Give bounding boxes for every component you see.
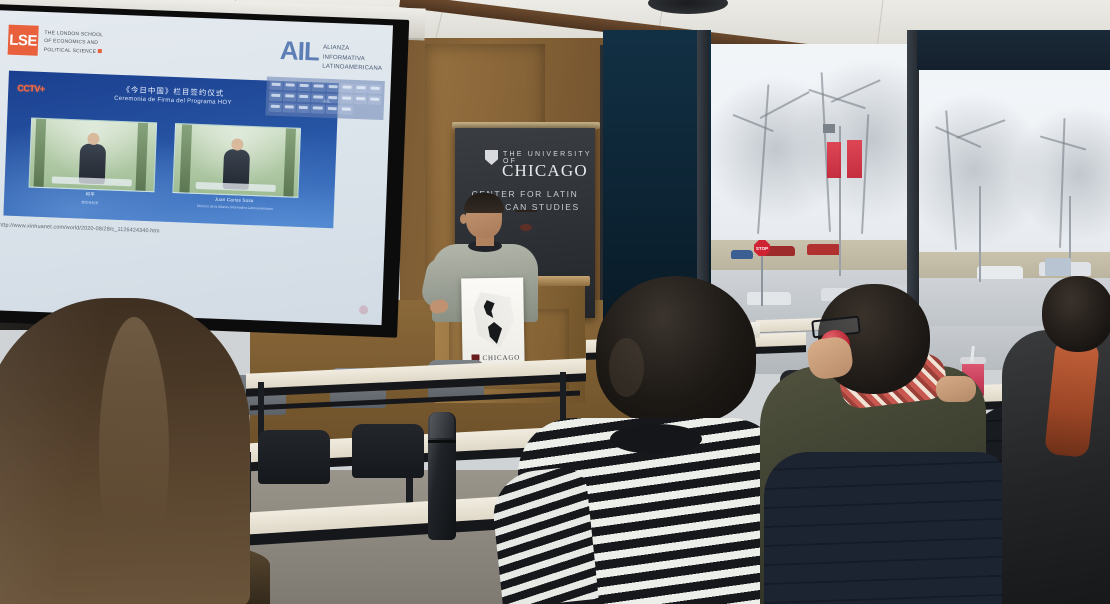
speaker-hair xyxy=(464,193,504,213)
lse-logo-icon: LSE xyxy=(8,25,39,56)
ail-mark: AIL xyxy=(280,39,320,63)
uchicago-shield-icon xyxy=(485,150,498,165)
projection-screen-assembly: LSE THE LONDON SCHOOL OF ECONOMICS AND P… xyxy=(0,0,424,348)
lse-wordmark-line1: THE LONDON SCHOOL xyxy=(44,30,103,38)
slide-corner-badge xyxy=(359,305,368,314)
stop-sign: STOP xyxy=(754,240,770,256)
ail-line3: LATINOAMERICANA xyxy=(322,64,382,72)
screen-frame: LSE THE LONDON SCHOOL OF ECONOMICS AND P… xyxy=(0,4,409,338)
street-banner-left xyxy=(827,142,841,178)
video-feed-left xyxy=(29,118,158,193)
banner-wordmark: CHICAGO xyxy=(502,161,588,181)
ail-logo-block: AIL ALIANZA INFORMATIVA LATINOAMERICANA xyxy=(279,39,384,75)
ail-line2: INFORMATIVA xyxy=(323,54,366,62)
lse-wordmark: THE LONDON SCHOOL OF ECONOMICS AND POLIT… xyxy=(44,29,165,58)
lse-wordmark-line3: POLITICAL SCIENCE xyxy=(44,46,97,54)
street-banner-right xyxy=(847,140,862,178)
window-valance xyxy=(917,30,1110,70)
partner-logo-grid xyxy=(265,77,384,121)
attendee-striped-arm xyxy=(489,465,598,604)
lse-logo-text: LSE xyxy=(9,31,37,49)
thermos-bottle xyxy=(428,412,456,540)
attendee-striped-head xyxy=(596,276,756,424)
lecture-room-photo: STOP xyxy=(0,0,1110,604)
attendee-far-right-head xyxy=(1042,276,1110,352)
attendee-apple-puffer-coat xyxy=(764,452,1008,604)
attendee-left-long-hair xyxy=(0,298,250,604)
chair-mid-1 xyxy=(258,430,330,484)
projected-slide: LSE THE LONDON SCHOOL OF ECONOMICS AND P… xyxy=(0,10,393,325)
chair-mid-2 xyxy=(352,424,424,478)
slide-source-url: http://www.xinhuanet.com/world/2020-08/2… xyxy=(0,222,160,234)
video-feed-right xyxy=(172,123,301,198)
lse-wordmark-line2: OF ECONOMICS AND xyxy=(44,38,98,46)
ail-line1: ALIANZA xyxy=(323,45,350,52)
attendee-right-hand xyxy=(936,376,976,402)
